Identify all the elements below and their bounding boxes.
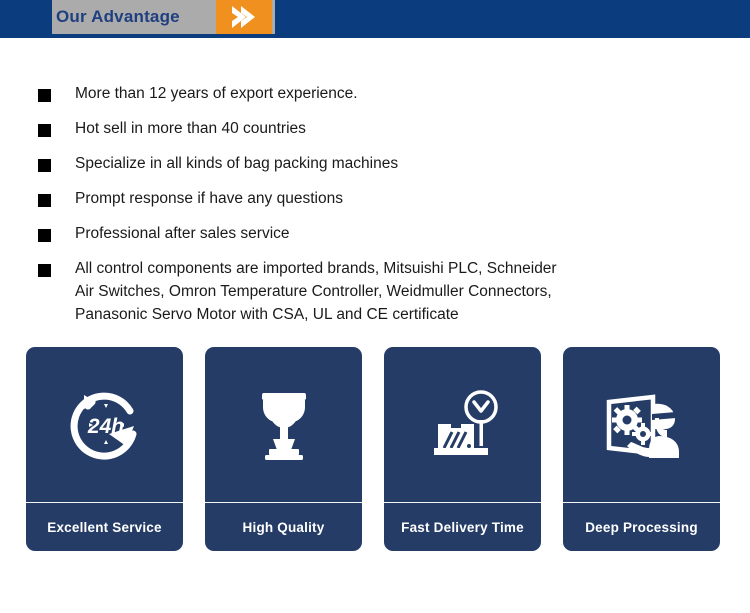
card-label-area: Excellent Service bbox=[26, 503, 183, 551]
bullet-square-icon bbox=[38, 124, 51, 137]
package-clock-icon bbox=[420, 382, 506, 468]
advantage-text: All control components are imported bran… bbox=[75, 251, 730, 326]
card-divider bbox=[384, 502, 541, 503]
card-label: Excellent Service bbox=[47, 520, 161, 535]
card-divider bbox=[563, 502, 720, 503]
list-item: Professional after sales service bbox=[0, 216, 750, 251]
card-divider bbox=[205, 502, 362, 503]
list-item: All control components are imported bran… bbox=[0, 251, 750, 326]
feature-card-deep-processing[interactable]: Deep Processing bbox=[563, 347, 720, 551]
card-icon-area: 24h bbox=[26, 347, 183, 502]
feature-card-high-quality[interactable]: High Quality bbox=[205, 347, 362, 551]
card-label-area: High Quality bbox=[205, 503, 362, 551]
advantage-text: Specialize in all kinds of bag packing m… bbox=[75, 146, 730, 175]
svg-text:24h: 24h bbox=[86, 415, 123, 438]
feature-cards-row: 24h Excellent Service bbox=[26, 347, 726, 551]
list-item: Prompt response if have any questions bbox=[0, 181, 750, 216]
card-icon-area bbox=[563, 347, 720, 502]
list-item: More than 12 years of export experience. bbox=[0, 76, 750, 111]
page-title: Our Advantage bbox=[56, 0, 216, 34]
list-item: Hot sell in more than 40 countries bbox=[0, 111, 750, 146]
clock-24h-refresh-icon: 24h bbox=[62, 382, 148, 468]
card-label: Fast Delivery Time bbox=[401, 520, 524, 535]
card-label: Deep Processing bbox=[585, 520, 698, 535]
worker-gears-icon bbox=[597, 382, 687, 468]
bullet-square-icon bbox=[38, 229, 51, 242]
card-label: High Quality bbox=[243, 520, 325, 535]
bullet-square-icon bbox=[38, 264, 51, 277]
advantage-list: More than 12 years of export experience.… bbox=[0, 76, 750, 326]
trophy-icon bbox=[241, 382, 327, 468]
advantage-text: Hot sell in more than 40 countries bbox=[75, 111, 730, 140]
header-banner: Our Advantage bbox=[0, 0, 750, 38]
card-label-area: Deep Processing bbox=[563, 503, 720, 551]
list-item: Specialize in all kinds of bag packing m… bbox=[0, 146, 750, 181]
card-label-area: Fast Delivery Time bbox=[384, 503, 541, 551]
card-divider bbox=[26, 502, 183, 503]
bullet-square-icon bbox=[38, 159, 51, 172]
header-arrow-box[interactable] bbox=[216, 0, 272, 34]
advantage-text: Professional after sales service bbox=[75, 216, 730, 245]
bullet-square-icon bbox=[38, 89, 51, 102]
card-icon-area bbox=[205, 347, 362, 502]
advantage-text: Prompt response if have any questions bbox=[75, 181, 730, 210]
feature-card-fast-delivery-time[interactable]: Fast Delivery Time bbox=[384, 347, 541, 551]
card-icon-area bbox=[384, 347, 541, 502]
feature-card-excellent-service[interactable]: 24h Excellent Service bbox=[26, 347, 183, 551]
bullet-square-icon bbox=[38, 194, 51, 207]
advantage-text: More than 12 years of export experience. bbox=[75, 76, 730, 105]
